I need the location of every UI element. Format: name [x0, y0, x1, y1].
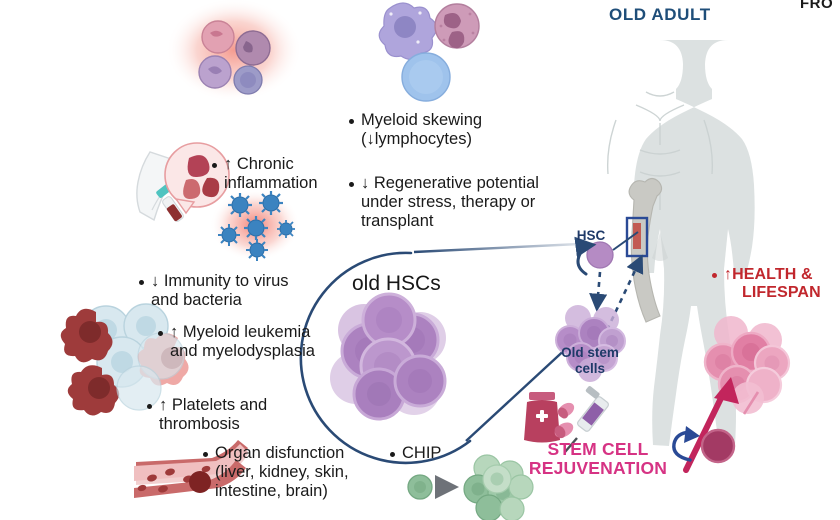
old-hscs-label: old HSCs — [352, 272, 441, 296]
old-stem-cells-line2: cells — [575, 361, 605, 376]
connector-line-to-body — [414, 243, 600, 252]
bullet-dot-red — [712, 273, 717, 278]
bullet-dot — [212, 163, 217, 168]
medicine-bottle-icon — [524, 392, 560, 443]
myeloid-neutrophil-icon — [435, 4, 479, 48]
bullet-label: Organ disfunction (liver, kidney, skin, … — [215, 444, 383, 501]
bullet-myeloid-skewing: Myeloid skewing (↓lymphocytes) — [349, 111, 579, 149]
rejuvenation-line-2: REJUVENATION — [529, 458, 667, 478]
hsc-label: HSC — [571, 228, 611, 244]
old-stem-cells-line1: Old stem — [561, 345, 619, 360]
bullet-dot — [147, 404, 152, 409]
bullet-dot — [390, 452, 395, 457]
virus-cluster-icon — [210, 189, 300, 261]
health-lifespan-callout: ↑HEALTH & LIFESPAN — [712, 266, 840, 302]
bullet-regenerative-potential: ↓ Regenerative potential under stress, t… — [349, 174, 589, 231]
bullet-platelets: ↑ Platelets and thrombosis — [147, 396, 317, 434]
figure-canvas: FRO OLD ADULT Myeloid skewing (↓lymphocy… — [0, 0, 840, 520]
rejuvenated-single-cell-icon — [702, 430, 734, 462]
bullet-label: ↑ Chronic inflammation — [224, 155, 362, 193]
bullet-immunity: ↓ Immunity to virus and bacteria — [139, 272, 319, 310]
myeloid-monocyte-icon — [379, 3, 436, 59]
old-stem-cells-label: Old stem cells — [549, 345, 631, 376]
bullet-line: Myeloid skewing — [361, 111, 482, 129]
rejuvenation-line-1: STEM CELL — [548, 439, 649, 459]
bullet-dot — [158, 331, 163, 336]
bullet-dot — [203, 452, 208, 457]
cutoff-header-text: FRO — [800, 0, 833, 12]
bullet-line: ↓ Regenerative potential — [361, 174, 539, 192]
bullet-label: CHIP — [402, 444, 441, 463]
bullet-dot — [349, 119, 354, 124]
lymphocyte-icon — [402, 53, 450, 101]
bullet-chip: CHIP — [390, 444, 480, 463]
bullet-line: (↓lymphocytes) — [361, 130, 472, 148]
bullet-chronic-inflammation: ↑ Chronic inflammation — [212, 155, 362, 193]
health-line-1: ↑HEALTH & — [724, 266, 813, 283]
dotted-arrow-hsc-to-old-cells — [597, 272, 600, 308]
bullet-myeloid-leukemia: ↑ Myeloid leukemia and myelodysplasia — [158, 323, 323, 361]
inflamed-blood-cells-icon — [166, 0, 302, 102]
old-hsc-cluster-icon — [330, 294, 446, 419]
stem-cell-rejuvenation-label: STEM CELL REJUVENATION — [513, 440, 683, 478]
bullet-line: transplant — [361, 212, 433, 230]
diagram-artwork — [0, 0, 840, 520]
old-adult-title: OLD ADULT — [609, 5, 711, 25]
bullet-label: ↑ Myeloid leukemia and myelodysplasia — [170, 323, 323, 361]
bullet-label: ↑ Platelets and thrombosis — [159, 396, 317, 434]
bullet-label: ↓ Immunity to virus and bacteria — [151, 272, 319, 310]
health-line-2: LIFESPAN — [724, 284, 821, 302]
bullet-line: under stress, therapy or — [361, 193, 535, 211]
bullet-organ-disfunction: Organ disfunction (liver, kidney, skin, … — [203, 444, 383, 501]
bullet-dot — [139, 280, 144, 285]
